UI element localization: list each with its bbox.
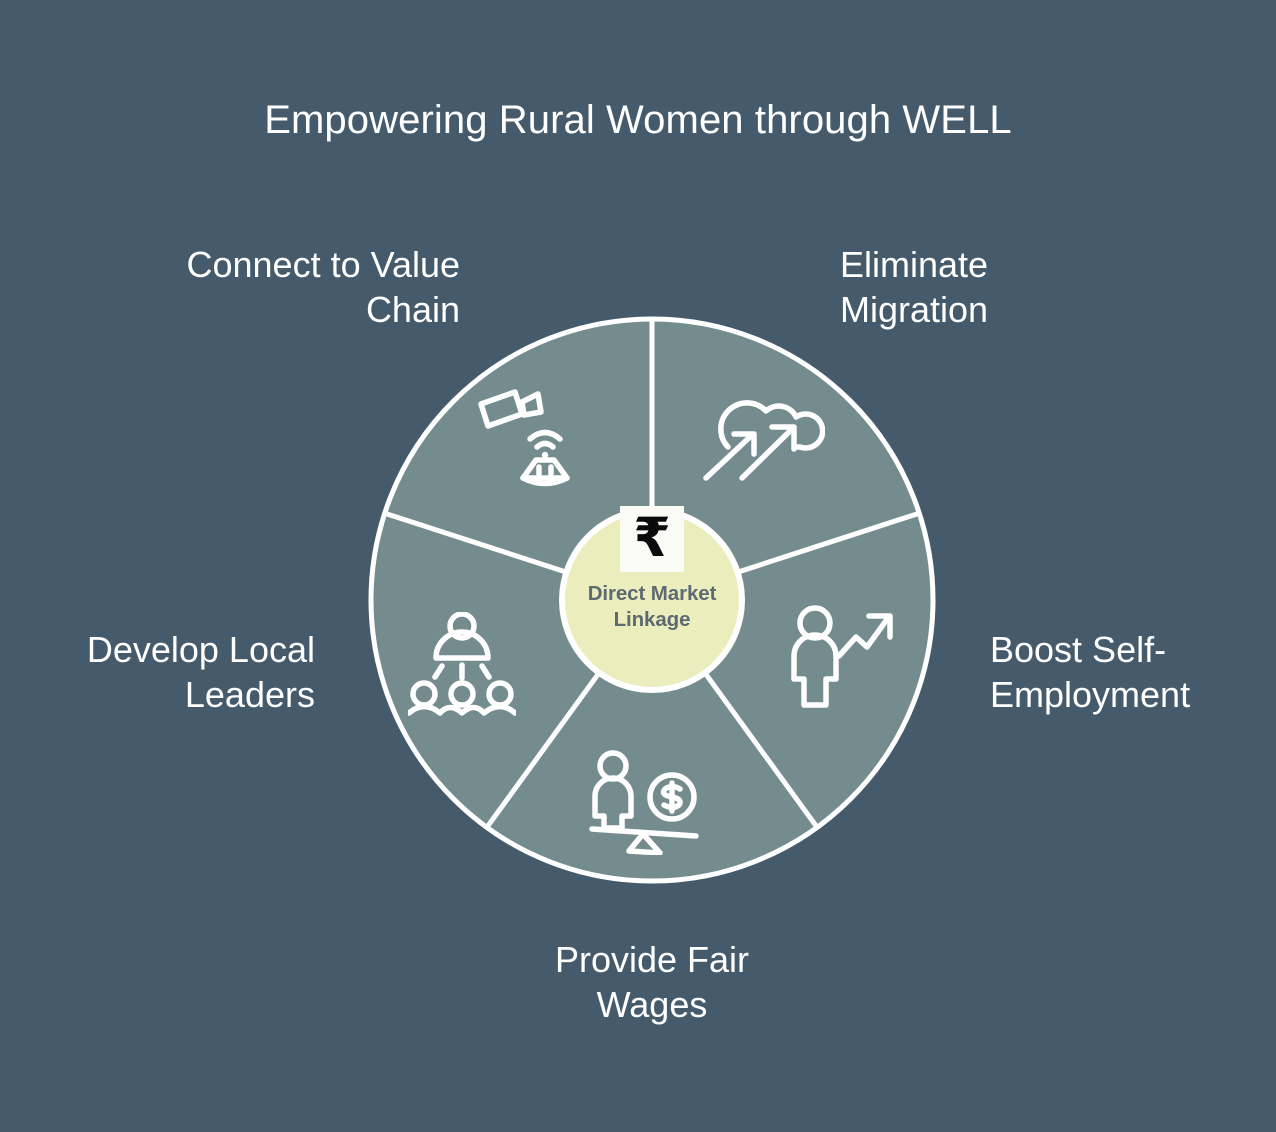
hub-label-line2: Linkage bbox=[588, 607, 717, 633]
cloud-arrows-up-icon bbox=[700, 385, 825, 485]
segment-label-line2: Wages bbox=[452, 982, 852, 1027]
balance-scale-person-coin-icon bbox=[588, 750, 703, 855]
segment-label-line2: Leaders bbox=[10, 672, 315, 717]
hub-direct-market-linkage: ₹ Direct Market Linkage bbox=[566, 514, 738, 686]
rupee-icon: ₹ bbox=[620, 506, 684, 572]
segment-label-eliminate-migration: Eliminate Migration bbox=[840, 242, 1200, 333]
rupee-glyph: ₹ bbox=[633, 511, 671, 565]
leader-with-group-icon bbox=[408, 612, 516, 717]
hub-label: Direct Market Linkage bbox=[588, 581, 717, 633]
segment-label-line1: Eliminate bbox=[840, 242, 1200, 287]
segment-label-provide-fair-wages: Provide Fair Wages bbox=[452, 937, 852, 1028]
page-title: Empowering Rural Women through WELL bbox=[0, 96, 1276, 144]
segment-label-line1: Connect to Value bbox=[60, 242, 460, 287]
segment-label-line2: Chain bbox=[60, 287, 460, 332]
segment-label-line1: Develop Local bbox=[10, 627, 315, 672]
segment-label-line1: Boost Self- bbox=[990, 627, 1260, 672]
segment-label-line2: Migration bbox=[840, 287, 1200, 332]
segment-label-boost-self-employment: Boost Self- Employment bbox=[990, 627, 1260, 718]
diagram-canvas: Empowering Rural Women through WELL bbox=[0, 0, 1276, 1132]
video-camera-basket-wifi-icon bbox=[475, 382, 585, 487]
person-growth-arrow-icon bbox=[790, 604, 898, 709]
segment-label-line2: Employment bbox=[990, 672, 1260, 717]
segment-label-connect-to-value-chain: Connect to Value Chain bbox=[60, 242, 460, 333]
segment-label-line1: Provide Fair bbox=[452, 937, 852, 982]
hub-label-line1: Direct Market bbox=[588, 581, 717, 607]
segment-label-develop-local-leaders: Develop Local Leaders bbox=[10, 627, 315, 718]
